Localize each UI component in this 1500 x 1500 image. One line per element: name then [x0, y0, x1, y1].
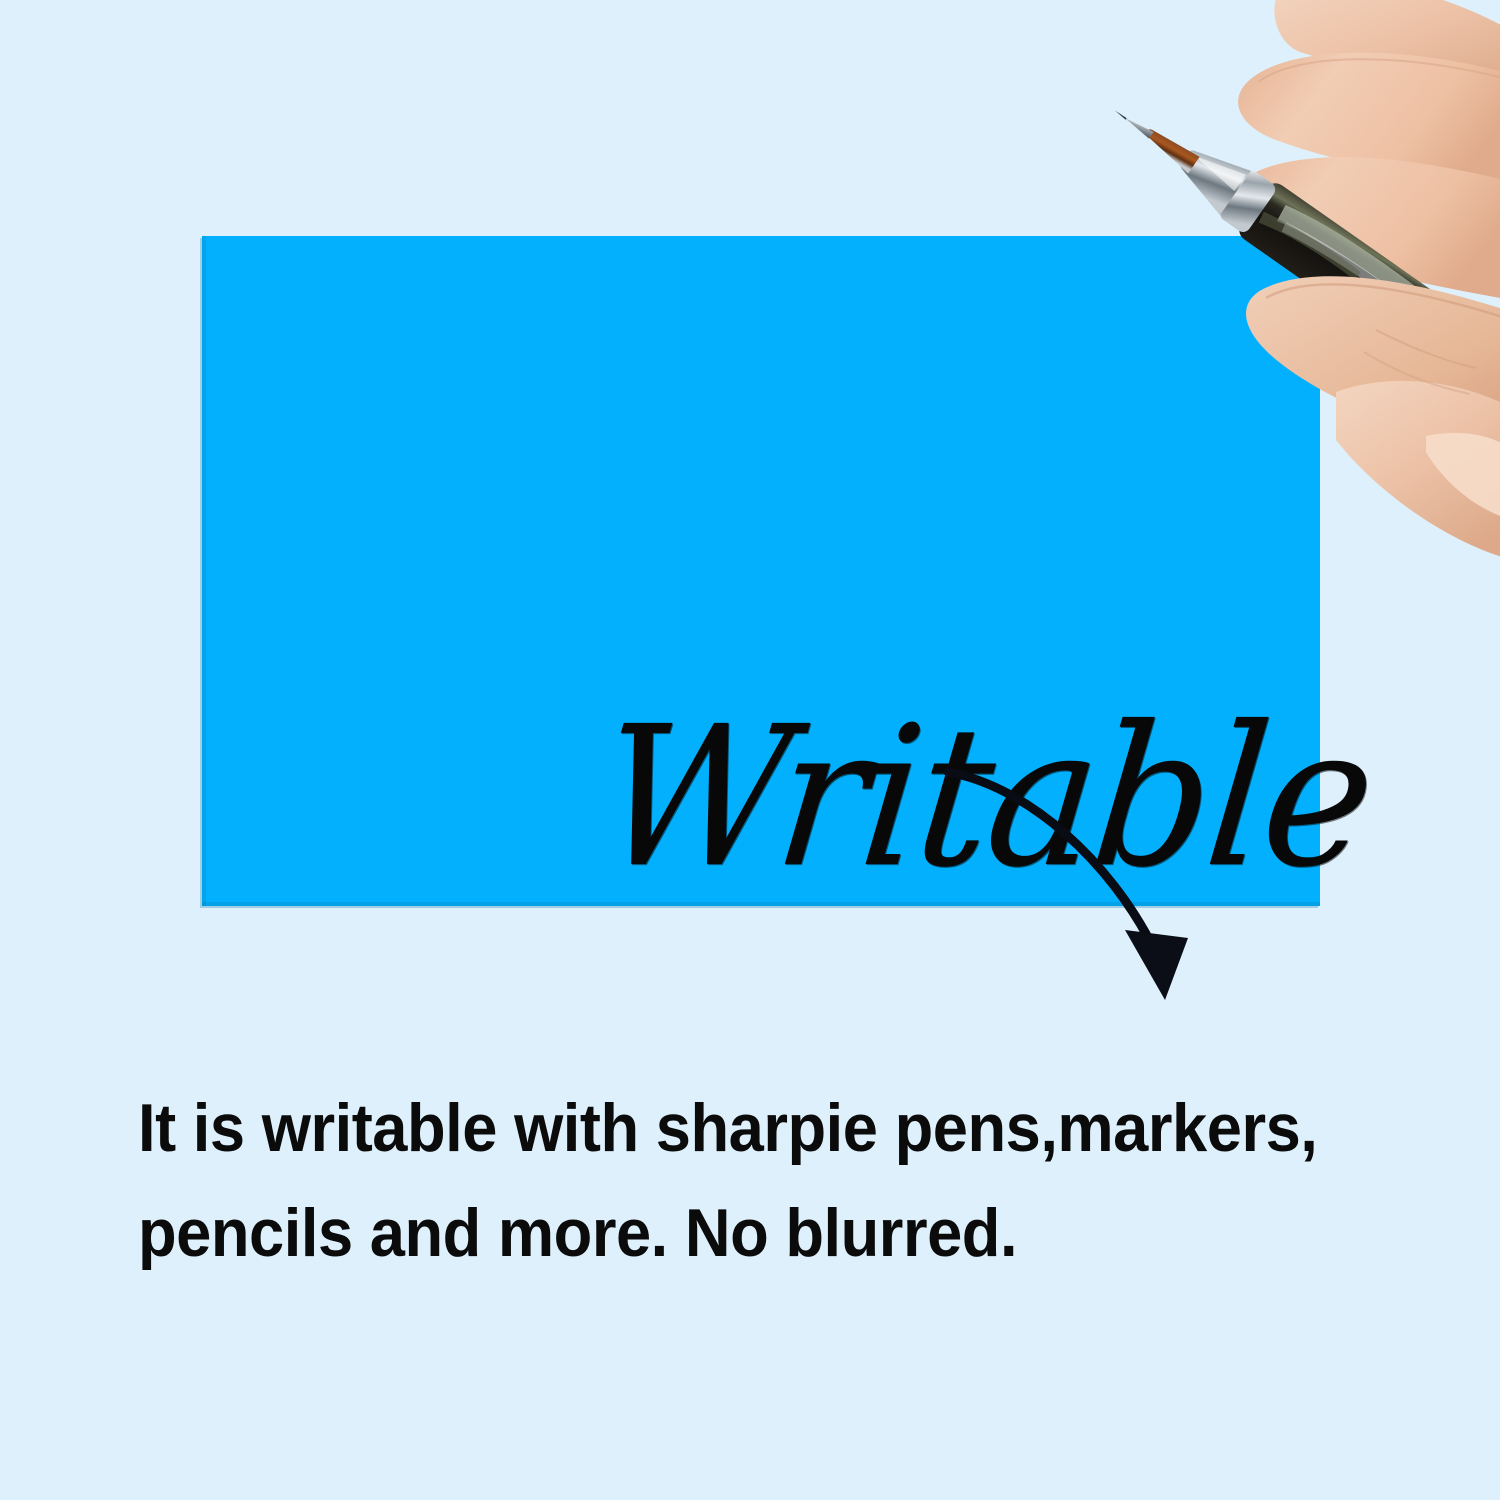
caption-block: It is writable with sharpie pens,markers…: [138, 1076, 1366, 1286]
hand-holding-pen-icon: [1140, 0, 1500, 560]
curved-arrow-icon: [920, 745, 1220, 1015]
caption-line-1: It is writable with sharpie pens,markers…: [138, 1076, 1366, 1181]
caption-line-2: pencils and more. No blurred.: [138, 1181, 1366, 1286]
product-feature-image: Writable: [0, 0, 1500, 1500]
